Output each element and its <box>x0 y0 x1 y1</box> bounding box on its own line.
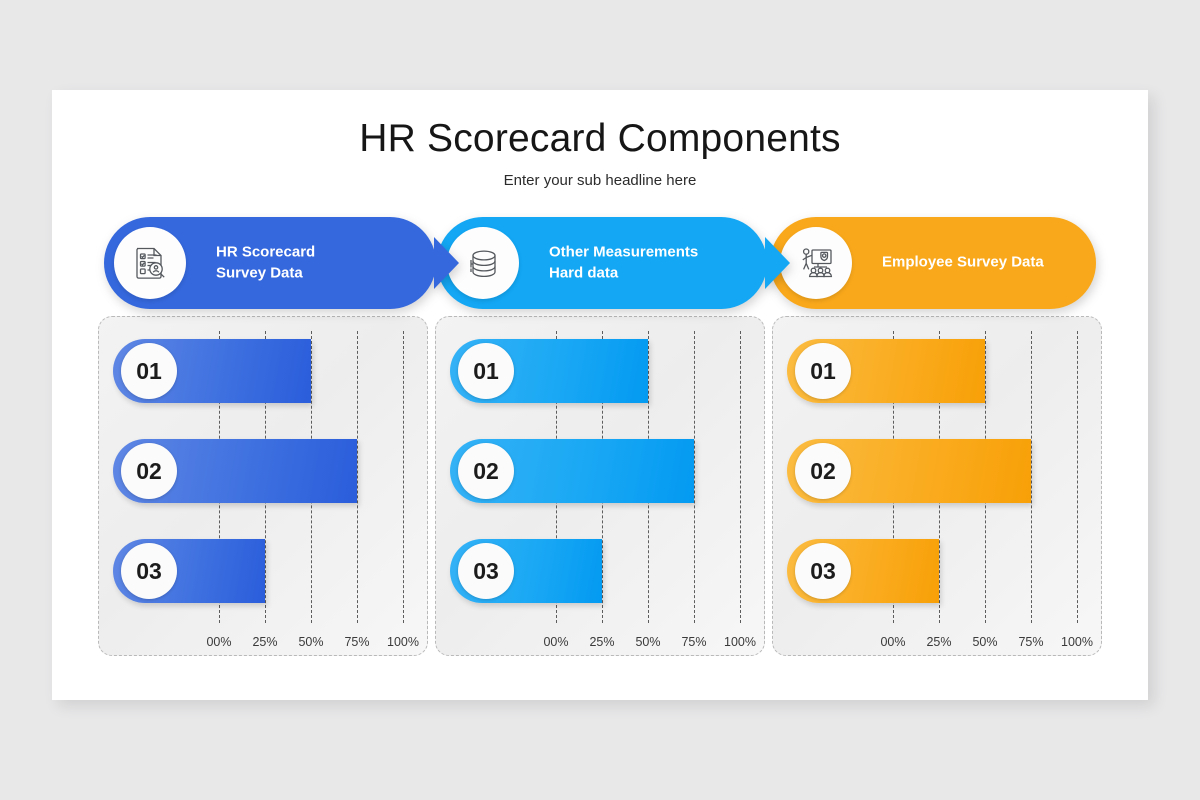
gridline-100 <box>1077 331 1078 623</box>
banner-row: HR Scorecard Survey Data Other Measureme… <box>52 217 1148 315</box>
banner-arrow-tip <box>765 237 790 289</box>
bar-row: 03 <box>113 539 265 603</box>
bar-row: 02 <box>450 439 694 503</box>
bar-row: 03 <box>450 539 602 603</box>
bar-number-badge: 02 <box>458 443 514 499</box>
axis-tick-label: 00% <box>543 635 568 649</box>
bar-row: 02 <box>787 439 1031 503</box>
axis-tick-label: 00% <box>206 635 231 649</box>
banner-label: Employee Survey Data <box>882 253 1044 274</box>
axis-tick-label: 75% <box>681 635 706 649</box>
gridline-75 <box>1031 331 1032 623</box>
checklist-magnifier-icon <box>114 227 186 299</box>
chart-panel-employee-survey-data: 01 02 03 00% 25% 50% 75% 100% <box>772 316 1102 656</box>
bar-row: 02 <box>113 439 357 503</box>
gridline-75 <box>357 331 358 623</box>
gridline-100 <box>740 331 741 623</box>
axis-tick-label: 25% <box>589 635 614 649</box>
bar-row: 01 <box>787 339 985 403</box>
axis-tick-label: 25% <box>926 635 951 649</box>
chart-panel-row: 01 02 03 00% 25% 50% 75% 100% <box>52 316 1148 666</box>
plot-area: 01 02 03 00% 25% 50% 75% 100% <box>99 317 427 655</box>
axis-tick-label: 50% <box>635 635 660 649</box>
bar-number-badge: 03 <box>795 543 851 599</box>
axis-tick-label: 100% <box>724 635 756 649</box>
banner-label: Other Measurements Hard data <box>549 242 698 283</box>
gridline-75 <box>694 331 695 623</box>
banner-arrow-tip <box>434 237 459 289</box>
banner-label: HR Scorecard Survey Data <box>216 242 315 283</box>
axis-tick-label: 00% <box>880 635 905 649</box>
banner-hr-scorecard-survey-data[interactable]: HR Scorecard Survey Data <box>104 217 436 309</box>
axis-tick-label: 75% <box>344 635 369 649</box>
bar-number-badge: 01 <box>795 343 851 399</box>
presentation-training-icon <box>780 227 852 299</box>
bar-row: 01 <box>450 339 648 403</box>
bar-row: 03 <box>787 539 939 603</box>
bar-number-badge: 02 <box>795 443 851 499</box>
axis-tick-label: 50% <box>298 635 323 649</box>
axis-tick-label: 75% <box>1018 635 1043 649</box>
banner-other-measurements-hard-data[interactable]: Other Measurements Hard data <box>437 217 767 309</box>
chart-panel-other-measurements-hard-data: 01 02 03 00% 25% 50% 75% 100% <box>435 316 765 656</box>
axis-tick-label: 100% <box>1061 635 1093 649</box>
plot-area: 01 02 03 00% 25% 50% 75% 100% <box>773 317 1101 655</box>
bar-number-badge: 03 <box>121 543 177 599</box>
gridline-100 <box>403 331 404 623</box>
page-subtitle: Enter your sub headline here <box>52 172 1148 189</box>
page-title: HR Scorecard Components <box>52 117 1148 161</box>
bar-number-badge: 01 <box>121 343 177 399</box>
bar-number-badge: 02 <box>121 443 177 499</box>
bar-row: 01 <box>113 339 311 403</box>
banner-employee-survey-data[interactable]: Employee Survey Data <box>770 217 1096 309</box>
plot-area: 01 02 03 00% 25% 50% 75% 100% <box>436 317 764 655</box>
bar-number-badge: 03 <box>458 543 514 599</box>
axis-tick-label: 50% <box>972 635 997 649</box>
axis-tick-label: 25% <box>252 635 277 649</box>
slide-canvas: HR Scorecard Components Enter your sub h… <box>52 90 1148 700</box>
chart-panel-hr-scorecard-survey-data: 01 02 03 00% 25% 50% 75% 100% <box>98 316 428 656</box>
axis-tick-label: 100% <box>387 635 419 649</box>
bar-number-badge: 01 <box>458 343 514 399</box>
